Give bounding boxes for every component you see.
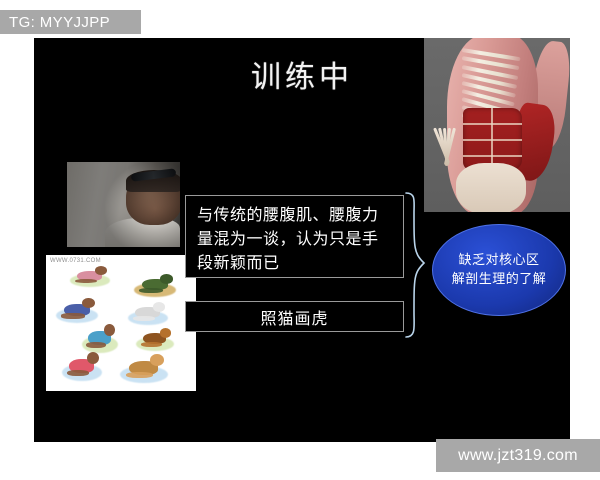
callout-line-2: 解剖生理的了解 <box>452 270 547 289</box>
anatomy-hand <box>433 128 465 166</box>
tg-badge: TG: MYYJJPP <box>0 10 141 34</box>
anatomy-rectus-abdominis <box>463 108 521 171</box>
cartoon-photo: WWW.0731.COM <box>46 255 196 391</box>
callout-line-1: 缺乏对核心区 <box>458 251 539 270</box>
curly-brace-connector <box>402 191 436 341</box>
portrait-vignette <box>67 162 180 247</box>
site-watermark: www.jzt319.com <box>436 439 600 472</box>
cartoon-watermark: WWW.0731.COM <box>50 258 101 264</box>
textbox-secondary: 照猫画虎 <box>185 301 404 332</box>
presentation-slide: 训练中 WWW.0731.COM 与传统的腰腹肌、腰腹力量混为一谈，认为只是手段… <box>34 38 570 442</box>
tg-badge-label: TG: MYYJJPP <box>9 14 110 31</box>
site-watermark-text: www.jzt319.com <box>458 447 578 465</box>
portrait-photo <box>67 162 180 247</box>
callout-ellipse: 缺乏对核心区 解剖生理的了解 <box>432 224 566 316</box>
curly-brace-icon <box>402 191 436 341</box>
textbox-secondary-text: 照猫画虎 <box>260 305 328 329</box>
anatomy-illustration <box>424 38 570 212</box>
textbox-primary: 与传统的腰腹肌、腰腹力量混为一谈，认为只是手段新颖而已 <box>185 195 404 278</box>
screenshot-root: 训练中 WWW.0731.COM 与传统的腰腹肌、腰腹力量混为一谈，认为只是手段… <box>0 0 600 480</box>
textbox-primary-text: 与传统的腰腹肌、腰腹力量混为一谈，认为只是手段新颖而已 <box>197 205 379 272</box>
anatomy-pelvis <box>456 163 526 212</box>
